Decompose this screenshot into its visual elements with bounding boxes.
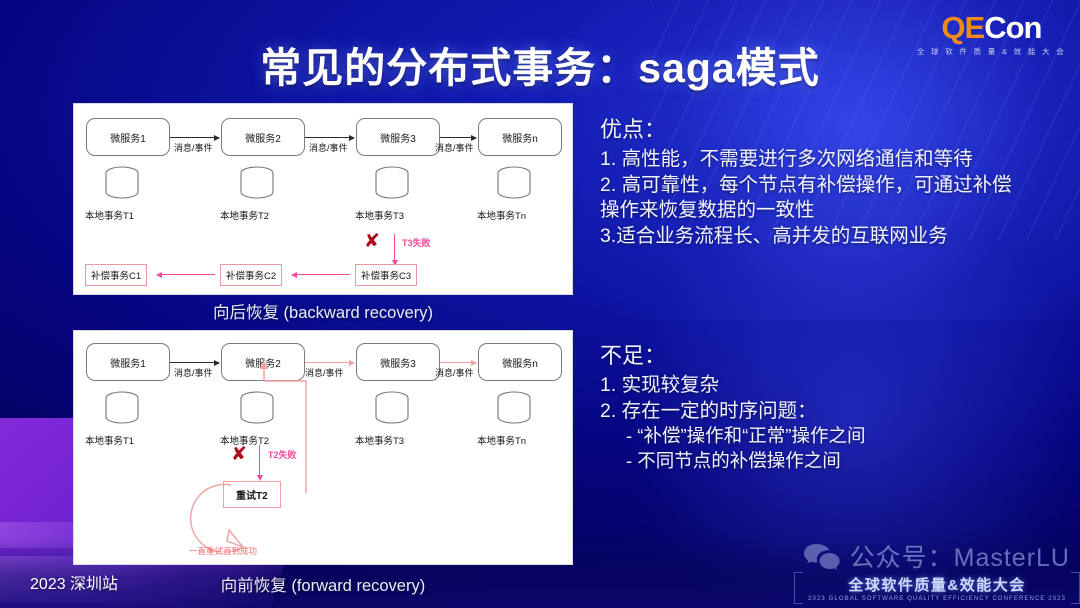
service-box-1: 微服务1 [86,118,170,156]
slide-canvas: QECon 全 球 软 件 质 量 & 效 能 大 会 常见的分布式事务：sag… [0,0,1080,608]
message-label-2: 消息/事件 [309,141,348,154]
footer-event-city: 2023 深圳站 [30,570,118,594]
retry-feedback-arrow [254,361,314,496]
pros-line-4: 3.适合业务流程长、高并发的互联网业务 [600,224,1070,250]
flow-arrow-1 [170,137,219,138]
service-box-n: 微服务n [478,118,562,156]
cons-block: 不足： 1. 实现较复杂 2. 存在一定的时序问题： - “补偿”操作和“正常”… [600,338,1070,473]
flow-arrow-1-fwd [170,362,219,363]
wechat-icon [803,542,841,570]
database-cylinder-2 [239,166,275,200]
database-cylinder-3 [374,166,410,200]
retry-note: 一直重试直到成功 [189,545,257,557]
database-cylinder-1-fwd [104,391,140,425]
compensation-arrow-1 [157,274,215,275]
pros-line-3: 操作来恢复数据的一致性 [600,198,1070,224]
local-tx-label-3: 本地事务T3 [355,208,404,222]
diagram-forward-recovery: 微服务1 微服务2 微服务3 微服务n 消息/事件 消息/事件 消息/事件 本地… [73,330,573,565]
cons-subline-1: - “补偿”操作和“正常”操作之间 [600,424,1070,448]
message-label-1: 消息/事件 [174,141,213,154]
cons-subline-2: - 不同节点的补偿操作之间 [600,449,1070,473]
failure-label: T3失败 [402,236,431,249]
diagram-backward-recovery: 微服务1 微服务2 微服务3 微服务n 消息/事件 消息/事件 消息/事件 本地… [73,103,573,295]
local-tx-label-1: 本地事务T1 [85,208,134,222]
compensation-box-c1: 补偿事务C1 [85,264,147,286]
database-cylinder-n-fwd [496,391,532,425]
compensation-arrow-2 [292,274,350,275]
cons-heading: 不足： [600,338,1070,370]
diagram2-caption: 向前恢复 (forward recovery) [73,572,573,596]
pros-heading: 优点： [600,112,1070,144]
conference-banner: 全球软件质量&效能大会 2023 GLOBAL SOFTWARE QUALITY… [808,574,1066,602]
wechat-watermark: 公众号：MasterLU [803,538,1070,574]
flow-arrow-2 [305,137,354,138]
flow-arrow-3-fwd [440,362,476,363]
database-cylinder-3-fwd [374,391,410,425]
banner-title-cn: 全球软件质量&效能大会 [808,574,1066,595]
pros-line-2: 2. 高可靠性，每个节点有补偿操作，可通过补偿 [600,173,1070,199]
pros-line-1: 1. 高性能，不需要进行多次网络通信和等待 [600,147,1070,173]
message-label-3-fwd: 消息/事件 [435,366,474,379]
page-title: 常见的分布式事务：saga模式 [0,34,1080,94]
database-cylinder-1 [104,166,140,200]
cons-line-2: 2. 存在一定的时序问题： [600,399,1070,425]
local-tx-label-1-fwd: 本地事务T1 [85,433,134,447]
local-tx-label-n: 本地事务Tn [477,208,526,222]
failure-down-arrow [394,234,395,260]
local-tx-label-3-fwd: 本地事务T3 [355,433,404,447]
service-box-2: 微服务2 [221,118,305,156]
local-tx-label-n-fwd: 本地事务Tn [477,433,526,447]
service-box-1-fwd: 微服务1 [86,343,170,381]
compensation-box-c2: 补偿事务C2 [220,264,282,286]
flow-arrow-3 [440,137,476,138]
message-label-3: 消息/事件 [435,141,474,154]
cons-line-1: 1. 实现较复杂 [600,373,1070,399]
compensation-box-c3: 补偿事务C3 [355,264,417,286]
database-cylinder-n [496,166,532,200]
service-box-3: 微服务3 [356,118,440,156]
service-box-3-fwd: 微服务3 [356,343,440,381]
watermark-text: 公众号：MasterLU [850,538,1070,574]
service-box-n-fwd: 微服务n [478,343,562,381]
banner-title-en: 2023 GLOBAL SOFTWARE QUALITY EFFICIENCY … [808,596,1066,602]
diagram1-caption: 向后恢复 (backward recovery) [73,299,573,323]
pros-block: 优点： 1. 高性能，不需要进行多次网络通信和等待 2. 高可靠性，每个节点有补… [600,112,1070,250]
banner-bracket-left [794,572,803,604]
message-label-1-fwd: 消息/事件 [174,366,213,379]
local-tx-label-2: 本地事务T2 [220,208,269,222]
failure-x-icon: ✘ [364,232,380,251]
banner-bracket-right [1071,572,1080,604]
